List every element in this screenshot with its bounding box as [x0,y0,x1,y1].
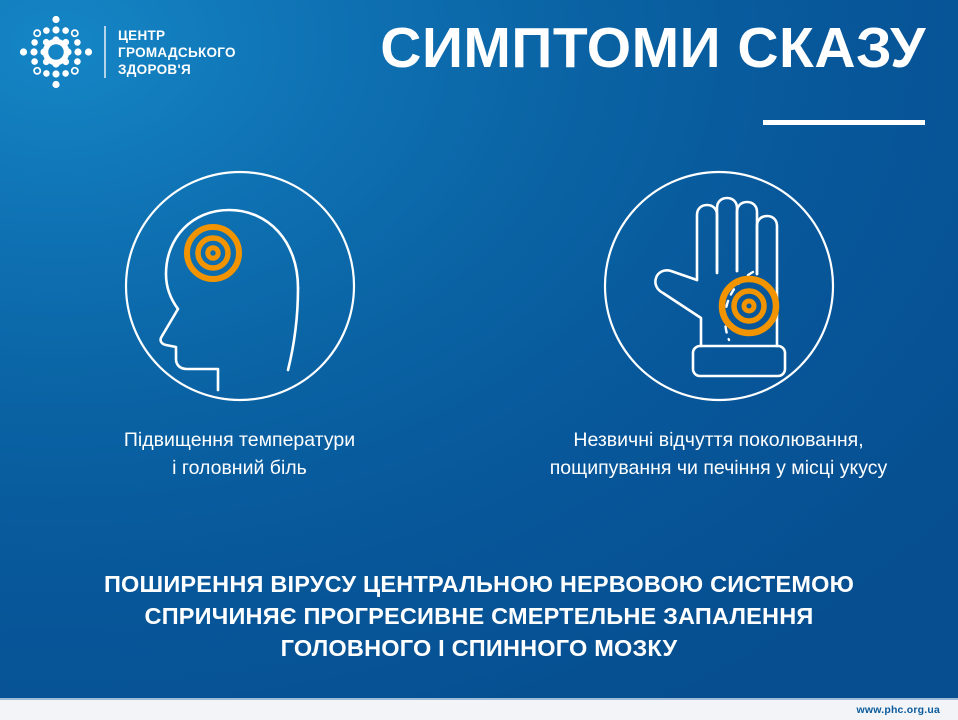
poster-header: ЦЕНТР ГРОМАДСЬКОГО ЗДОРОВ'Я СИМПТОМИ СКА… [0,0,958,140]
phc-dot-diamond-logo-icon [18,14,94,90]
symptom-item-fever-headache: Підвищення температури і головний біль [0,168,479,518]
symptom-caption: Незвичні відчуття поколювання, пощипуван… [499,426,939,482]
title-underline-rule [763,120,925,125]
symptom-item-tingling-bite: Незвичні відчуття поколювання, пощипуван… [479,168,958,518]
infographic-poster: ЦЕНТР ГРОМАДСЬКОГО ЗДОРОВ'Я СИМПТОМИ СКА… [0,0,958,720]
head-profile-headache-icon [122,168,358,404]
logo-divider [104,26,106,78]
symptom-caption: Підвищення температури і головний біль [20,426,460,482]
page-title: СИМПТОМИ СКАЗУ [286,16,926,80]
poster-footer: www.phc.org.ua [0,700,958,720]
organization-logo: ЦЕНТР ГРОМАДСЬКОГО ЗДОРОВ'Я [18,14,236,90]
organization-name: ЦЕНТР ГРОМАДСЬКОГО ЗДОРОВ'Я [118,27,236,78]
symptoms-row: Підвищення температури і головний біль [0,168,958,518]
key-message-statement: ПОШИРЕННЯ ВІРУСУ ЦЕНТРАЛЬНОЮ НЕРВОВОЮ СИ… [0,568,958,664]
hand-tingling-bite-site-icon [601,168,837,404]
website-url[interactable]: www.phc.org.ua [857,704,941,716]
